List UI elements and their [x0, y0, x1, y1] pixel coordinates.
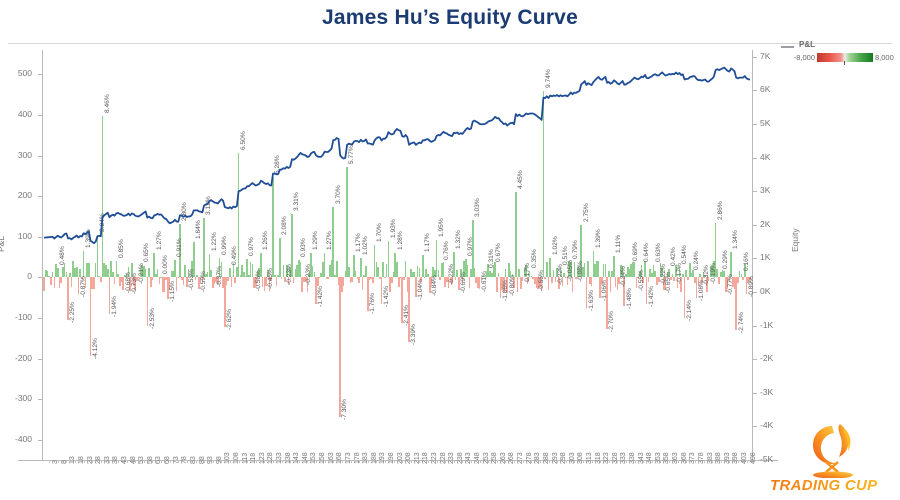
trophy-flame-icon — [770, 418, 894, 478]
equity-line-path — [44, 68, 750, 244]
trading-cup-logo: TRADING CUP — [770, 418, 894, 496]
equity-curve-chart: James Hu’s Equity Curve P&L -8,000 8,000… — [0, 0, 900, 500]
logo-text: TRADING CUP — [770, 477, 894, 494]
equity-line — [0, 0, 900, 500]
